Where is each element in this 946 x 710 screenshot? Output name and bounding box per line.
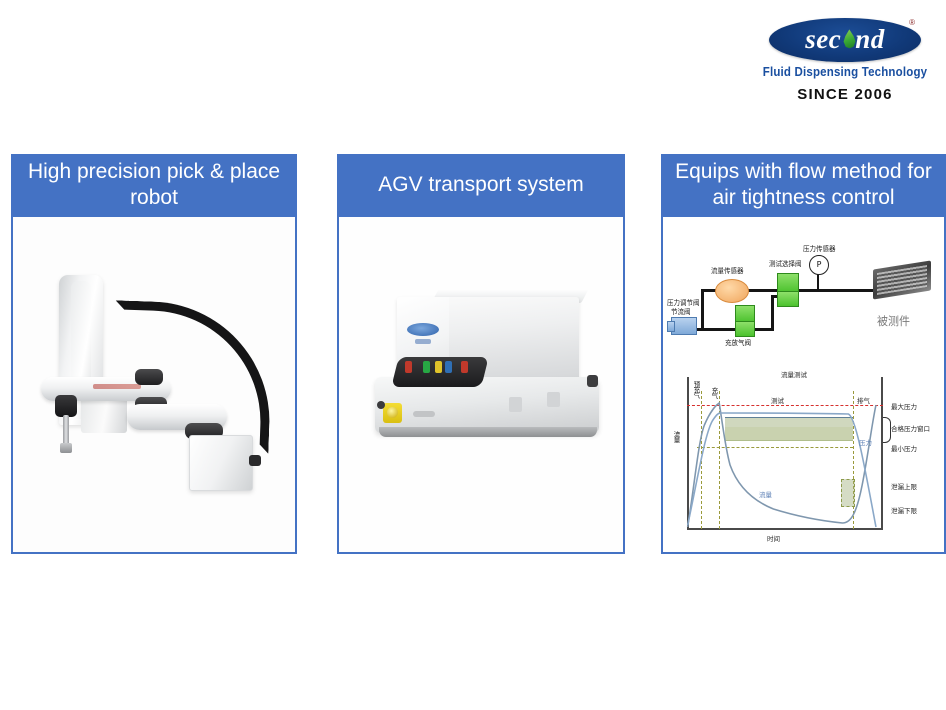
agv-button-red-left <box>405 361 412 373</box>
chart-annotation-pressure: 压力 <box>859 437 872 447</box>
fill-valve-icon-lower <box>735 321 755 337</box>
flow-method-diagram: 流量传感器 测试选择阀 P 压力传感器 充放气阀 压力调节阀 节流阀 <box>663 217 944 552</box>
card-pick-and-place-robot: High precision pick & place robot <box>11 154 297 554</box>
chart-label-max-pressure: 最大压力 <box>891 401 917 411</box>
chart-phase-label-prefill: 预充气 <box>691 381 701 398</box>
chart-label-pressure-window: 合格压力窗口 <box>891 423 930 433</box>
logo-since-text: SINCE 2006 <box>755 86 935 103</box>
agv-brand-subtext <box>415 339 431 344</box>
card-image-air-tightness-flow-method: 流量传感器 测试选择阀 P 压力传感器 充放气阀 压力调节阀 节流阀 <box>661 217 946 554</box>
chart-annotation-flow: 流量 <box>759 489 772 499</box>
pressure-gauge-icon: P <box>809 255 829 275</box>
card-title-pick-and-place-robot: High precision pick & place robot <box>11 154 297 217</box>
agv-button-red-right <box>461 361 468 373</box>
card-agv-transport-system: AGV transport system <box>337 154 625 554</box>
chart-label-leak-lower: 泄漏下限 <box>891 505 917 515</box>
pipe-left-riser <box>701 289 704 331</box>
chart-label-leak-upper: 泄漏上限 <box>891 481 917 491</box>
agv-emergency-stop-knob <box>387 407 398 418</box>
card-air-tightness-flow-method: Equips with flow method for air tightnes… <box>661 154 946 554</box>
chart-series-pressure <box>688 413 876 527</box>
pneumatic-schematic: 流量传感器 测试选择阀 P 压力传感器 充放气阀 压力调节阀 节流阀 <box>663 217 944 367</box>
chart-curves <box>663 365 944 547</box>
agv-brand-badge <box>407 323 439 336</box>
company-logo: second ® Fluid Dispensing Technology SIN… <box>755 14 935 106</box>
chart-series-flow <box>688 403 876 527</box>
flow-test-chart: 流量测试 流量 时间 <box>663 365 944 547</box>
agv-illustration <box>339 217 623 552</box>
robot-arm-branding <box>93 384 141 389</box>
logo-tagline: Fluid Dispensing Technology <box>762 65 928 79</box>
chart-phase-label-test: 测试 <box>771 395 784 405</box>
agv-button-yellow <box>435 361 442 373</box>
flow-sensor-label: 流量传感器 <box>711 265 744 276</box>
card-image-pick-and-place-robot <box>11 217 297 554</box>
robot-spindle-head <box>55 395 77 417</box>
fill-valve-label: 充放气阀 <box>725 337 751 348</box>
test-valve-label: 测试选择阀 <box>769 258 802 269</box>
agv-front-slot <box>413 411 435 417</box>
pipe-branch-riser <box>771 295 774 331</box>
chart-phase-label-exhaust: 排气 <box>857 395 870 405</box>
device-under-test-label: 被测件 <box>877 313 910 330</box>
chart-pressure-window-brace <box>883 417 891 443</box>
robot-controller-box <box>189 435 253 491</box>
registered-trademark-icon: ® <box>909 18 915 27</box>
flow-sensor-icon <box>715 279 749 303</box>
test-valve-icon <box>777 273 799 293</box>
agv-front-sensor <box>377 401 385 409</box>
card-title-agv-transport-system: AGV transport system <box>337 154 625 217</box>
pressure-regulator-inlet <box>667 321 675 332</box>
robot-joint-upper <box>135 369 163 385</box>
card-title-air-tightness-flow-method: Equips with flow method for air tightnes… <box>661 154 946 217</box>
chart-phase-label-fill: 充气 <box>709 387 719 398</box>
agv-button-green <box>423 361 430 373</box>
pressure-sensor-label: 压力传感器 <box>803 243 836 254</box>
agv-skirt <box>379 427 597 437</box>
test-valve-icon-lower <box>777 291 799 307</box>
robot-connector <box>249 455 261 466</box>
chart-label-min-pressure: 最小压力 <box>891 443 917 453</box>
agv-side-vent-front <box>509 397 522 412</box>
robot-spindle-tip <box>60 443 72 453</box>
agv-side-vent-rear <box>547 392 560 407</box>
agv-rear-connector <box>587 375 598 387</box>
scara-robot-illustration <box>13 217 295 552</box>
robot-spindle <box>63 415 69 445</box>
logo-ellipse: second ® <box>769 18 921 62</box>
agv-button-blue <box>445 361 452 373</box>
pressure-regulator-label-2: 节流阀 <box>671 306 691 317</box>
card-image-agv-transport-system <box>337 217 625 554</box>
